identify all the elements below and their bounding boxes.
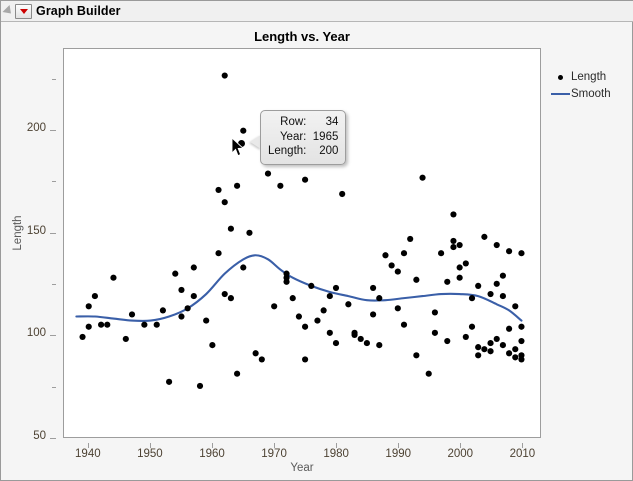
tooltip-key: Year: (280, 130, 306, 145)
data-point-tooltip: Row: 34 Year: 1965 Length: 200 (260, 110, 346, 165)
chart-legend: Length Smooth (549, 69, 627, 103)
x-axis-tick-label: 1960 (189, 448, 235, 460)
chart-title: Length vs. Year (63, 29, 541, 44)
y-axis-tick (52, 181, 56, 182)
x-axis-title: Year (63, 462, 541, 474)
legend-item-smooth[interactable]: Smooth (549, 86, 627, 102)
x-axis-tick-label: 2000 (437, 448, 483, 460)
graph-builder-window: Graph Builder Length vs. Year Length 501… (0, 0, 633, 481)
y-axis-tick (50, 130, 56, 131)
legend-line-icon (549, 93, 571, 95)
x-axis-tick-label: 1990 (375, 448, 421, 460)
legend-dot-icon (549, 75, 571, 80)
y-axis-tick-label: 100 (27, 327, 46, 339)
y-axis-tick (50, 335, 56, 336)
tooltip-value: 200 (306, 144, 338, 159)
y-axis-tick (52, 79, 56, 80)
legend-item-length[interactable]: Length (549, 69, 627, 85)
x-axis-tick-label: 1950 (127, 448, 173, 460)
smooth-curve (76, 255, 521, 321)
red-dropdown-triangle-icon[interactable] (15, 4, 32, 19)
y-axis-labels: 50100150200 (1, 48, 56, 438)
y-axis-tick-label: 200 (27, 122, 46, 134)
legend-label: Smooth (571, 88, 611, 100)
tooltip-value: 34 (306, 115, 338, 130)
tooltip-row: Length: 200 (268, 144, 338, 159)
mouse-cursor-icon (231, 137, 245, 157)
tooltip-row: Year: 1965 (268, 130, 338, 145)
y-axis-tick-label: 150 (27, 225, 46, 237)
x-axis-labels: 19401950196019701980199020002010 (63, 443, 541, 459)
y-axis-tick (50, 233, 56, 234)
disclosure-triangle-icon[interactable] (1, 1, 15, 22)
y-axis-tick (52, 387, 56, 388)
y-axis-tick (50, 438, 56, 439)
plot-area[interactable] (63, 48, 541, 438)
y-axis-tick-label: 50 (33, 430, 46, 442)
tooltip-row: Row: 34 (268, 115, 338, 130)
legend-label: Length (571, 71, 606, 83)
x-axis-tick-label: 2010 (499, 448, 545, 460)
x-axis-tick-label: 1980 (313, 448, 359, 460)
tooltip-key: Length: (268, 144, 306, 159)
x-axis-tick-label: 1940 (65, 448, 111, 460)
window-titlebar: Graph Builder (1, 1, 633, 22)
tooltip-key: Row: (280, 115, 306, 130)
window-title: Graph Builder (36, 4, 121, 18)
x-axis-tick-label: 1970 (251, 448, 297, 460)
chart-panel: Length vs. Year Length 50100150200 19401… (1, 22, 632, 480)
plot-svg (64, 49, 540, 437)
y-axis-tick (52, 284, 56, 285)
tooltip-value: 1965 (306, 130, 338, 145)
